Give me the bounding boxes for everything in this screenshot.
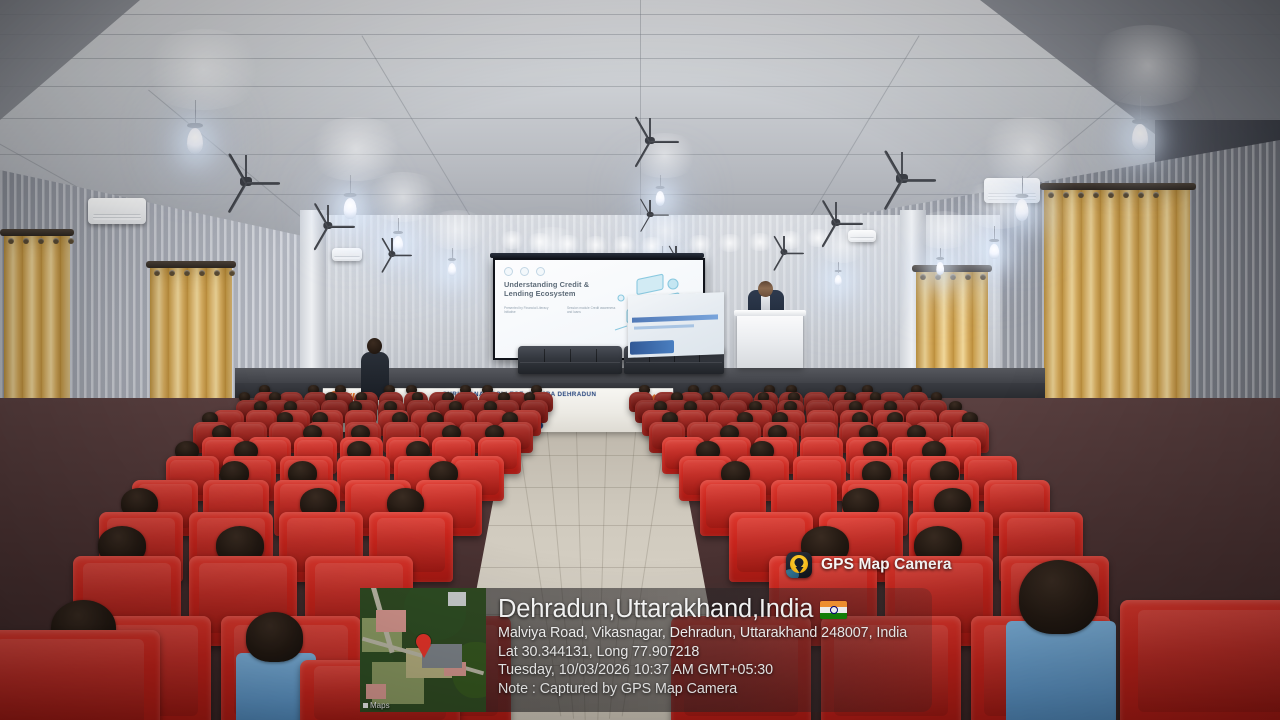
auditorium-seat-foreground: [1120, 600, 1280, 720]
slide-title: Understanding Credit & Lending Ecosystem: [504, 280, 619, 298]
floor-tile-line: [452, 567, 730, 568]
location-coordinates: Lat 30.344131, Long 77.907218: [498, 643, 922, 662]
city-text: Dehradun,Uttarakhand,India: [498, 595, 813, 623]
screenshot-root: Understanding Credit & Lending Ecosystem…: [0, 0, 1280, 720]
map-watermark: Maps: [363, 701, 390, 710]
podium: [737, 314, 803, 368]
air-conditioner-center-right: [848, 230, 876, 242]
stage-backdrop-banner: [628, 292, 724, 358]
auditorium-seat-foreground: [0, 630, 160, 720]
foreground-student-head: [1019, 560, 1098, 634]
air-conditioner-left: [88, 198, 146, 224]
gps-brand-row: GPS Map Camera: [786, 552, 952, 578]
india-flag-icon: [820, 601, 847, 619]
floor-tile-line: [452, 525, 730, 526]
gps-text-panel: Dehradun,Uttarakhand,India Malviya Road,…: [486, 588, 932, 712]
slide-decor-icons: [504, 267, 545, 276]
gps-brand-label: GPS Map Camera: [821, 556, 952, 574]
air-conditioner-center-left: [332, 248, 362, 261]
foreground-student-uniform: [1006, 621, 1116, 720]
location-address: Malviya Road, Vikasnagar, Dehradun, Utta…: [498, 624, 922, 643]
capture-note: Note : Captured by GPS Map Camera: [498, 680, 922, 699]
air-conditioner-right: [984, 178, 1040, 203]
gps-map-camera-app-icon: [786, 552, 812, 578]
map-thumbnail[interactable]: Maps: [360, 588, 486, 712]
capture-datetime: Tuesday, 10/03/2026 10:37 AM GMT+05:30: [498, 661, 922, 680]
sofa-left: [518, 346, 622, 374]
curtain-right-far: [1044, 190, 1190, 428]
speaker-head: [758, 281, 773, 297]
gps-info-card: Maps Dehradun,Uttarakhand,India Malviya …: [360, 588, 932, 712]
foreground-student-head: [246, 612, 304, 662]
slide-left-note: Presented by Financial Literacy Initiati…: [504, 306, 554, 315]
map-marker-icon: [416, 634, 431, 649]
curtain-left-near: [150, 268, 232, 418]
location-city-line: Dehradun,Uttarakhand,India: [498, 594, 922, 624]
